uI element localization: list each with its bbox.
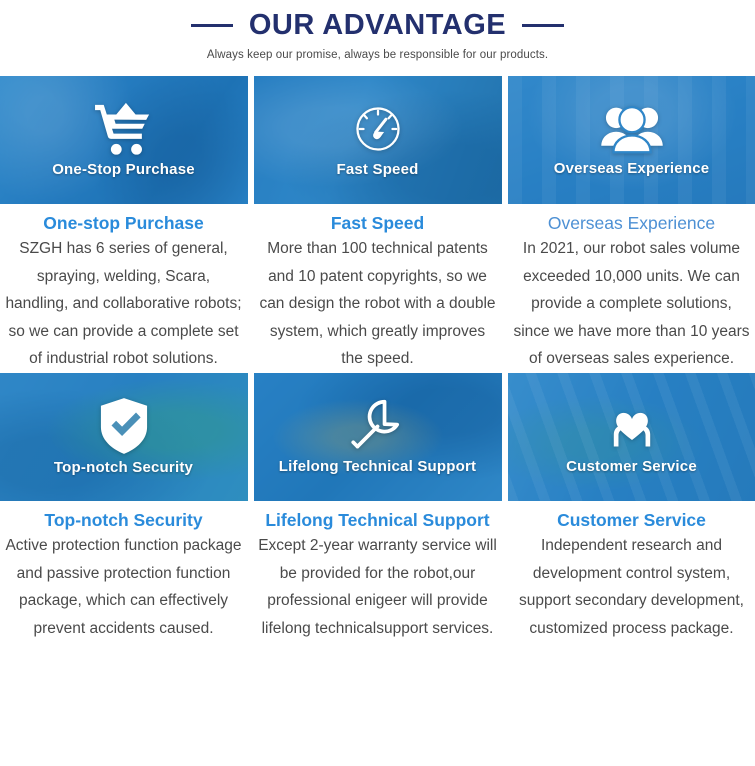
- card-body-text: In 2021, our robot sales volume exceeded…: [508, 235, 755, 373]
- group-people-icon: [599, 102, 665, 156]
- shield-check-icon: [99, 397, 149, 455]
- speedometer-icon: [350, 101, 406, 157]
- advantage-card-lifelong-technical-support[interactable]: Lifelong Technical Support Lifelong Tech…: [254, 373, 502, 642]
- advantage-card-top-notch-security[interactable]: Top-notch Security Top-notch Security Ac…: [0, 373, 248, 642]
- card-banner[interactable]: One-Stop Purchase: [0, 76, 248, 204]
- divider-dash-left: [191, 24, 233, 27]
- card-body-text: Active protection function package and p…: [0, 532, 248, 642]
- divider-dash-right: [522, 24, 564, 27]
- card-banner[interactable]: Fast Speed: [254, 76, 502, 204]
- advantage-card-fast-speed[interactable]: Fast Speed Fast Speed More than 100 tech…: [254, 76, 502, 373]
- banner-label: Lifelong Technical Support: [279, 458, 476, 475]
- card-banner[interactable]: Lifelong Technical Support: [254, 373, 502, 501]
- card-title: Lifelong Technical Support: [254, 510, 502, 530]
- section-header: OUR ADVANTAGE Always keep our promise, a…: [0, 0, 755, 61]
- card-body-text: Except 2-year warranty service will be p…: [254, 532, 502, 642]
- advantage-card-customer-service[interactable]: Customer Service Customer Service Indepe…: [508, 373, 755, 642]
- heart-in-hands-icon: [603, 398, 661, 454]
- banner-label: Customer Service: [566, 458, 697, 475]
- card-banner[interactable]: Top-notch Security: [0, 373, 248, 501]
- our-advantage-section: OUR ADVANTAGE Always keep our promise, a…: [0, 0, 755, 766]
- card-body-text: SZGH has 6 series of general, spraying, …: [0, 235, 248, 373]
- shopping-cart-icon: [93, 101, 155, 157]
- advantage-card-overseas-experience[interactable]: Overseas Experience Overseas Experience …: [508, 76, 755, 373]
- banner-label: One-Stop Purchase: [52, 161, 195, 178]
- card-title: One-stop Purchase: [0, 213, 248, 233]
- section-subtitle: Always keep our promise, always be respo…: [0, 49, 755, 61]
- banner-label: Top-notch Security: [54, 459, 193, 476]
- page-title: OUR ADVANTAGE: [249, 10, 506, 42]
- card-body-text: Independent research and development con…: [508, 532, 755, 642]
- banner-label: Fast Speed: [336, 161, 418, 178]
- banner-label: Overseas Experience: [554, 160, 710, 177]
- advantage-card-one-stop-purchase[interactable]: One-Stop Purchase One-stop Purchase SZGH…: [0, 76, 248, 373]
- card-title: Customer Service: [508, 510, 755, 530]
- card-banner[interactable]: Customer Service: [508, 373, 755, 501]
- card-title: Fast Speed: [254, 213, 502, 233]
- card-banner[interactable]: Overseas Experience: [508, 76, 755, 204]
- card-title: Overseas Experience: [508, 213, 755, 233]
- card-body-text: More than 100 technical patents and 10 p…: [254, 235, 502, 373]
- title-row: OUR ADVANTAGE: [0, 10, 755, 42]
- advantage-card-grid: One-Stop Purchase One-stop Purchase SZGH…: [0, 76, 755, 642]
- wrench-icon: [349, 398, 407, 454]
- card-title: Top-notch Security: [0, 510, 248, 530]
